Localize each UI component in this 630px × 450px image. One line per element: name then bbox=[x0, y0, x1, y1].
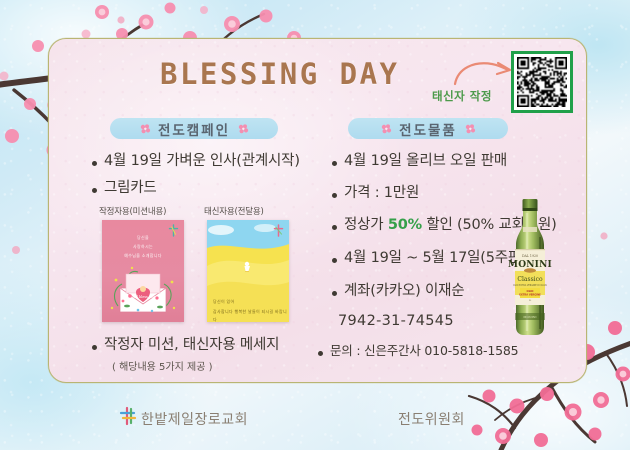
footer-church-name: 한밭제일장로교회 bbox=[141, 409, 248, 429]
bullet-dot bbox=[332, 258, 337, 263]
svg-text:EXTRA VERGINE: EXTRA VERGINE bbox=[519, 293, 541, 296]
list-item: 그림카드 bbox=[92, 180, 157, 197]
card-line-2: 사랑하시는 bbox=[102, 243, 184, 251]
contact-label: 문의 : 신은주간사 010-5818-1585 bbox=[330, 344, 518, 358]
list-item: 작정자 미션, 태신자용 메세지 bbox=[92, 337, 279, 354]
bullet-dot bbox=[318, 351, 323, 356]
poster-canvas: BLESSING DAY 태신자 작정 전도캠페인 4월 19일 가벼운 인사(… bbox=[0, 0, 630, 450]
cherry-blossom-icon bbox=[139, 123, 151, 135]
list-item: 가격 : 1만원 bbox=[332, 185, 419, 202]
bullet-dot bbox=[92, 188, 97, 193]
pink-envelope-card: 당신을 사랑하시는 예수님을 소개합니다 God bless you bbox=[102, 220, 184, 322]
qr-note-label: 태신자 작정 bbox=[432, 88, 492, 104]
cherry-blossom-icon bbox=[237, 123, 249, 135]
cross-icon bbox=[272, 224, 285, 237]
church-cross-logo bbox=[118, 406, 138, 426]
bottle-sub: OLIO EXTRA VERGINE DI OLIVA bbox=[513, 284, 547, 287]
bullet-dot bbox=[332, 161, 337, 166]
card-caption: 작정자용(미션내용) bbox=[99, 205, 166, 217]
bullet-dot bbox=[92, 161, 97, 166]
bottle-variant: Classico bbox=[517, 276, 543, 283]
list-item: 4월 19일 가벼운 인사(관계시작) bbox=[92, 153, 300, 170]
card-line-1: 당신이 있어 bbox=[213, 298, 234, 306]
cherry-blossom-icon bbox=[380, 123, 392, 135]
section-heading-campaign: 전도캠페인 bbox=[110, 118, 278, 139]
list-item: 문의 : 신은주간사 010-5818-1585 bbox=[318, 344, 518, 358]
card-heart-text: God bless you bbox=[131, 295, 156, 299]
card-line-2: 감사합니다 행복한 날들이 되시길 바랍니다 bbox=[213, 308, 289, 322]
curved-arrow-icon bbox=[452, 58, 514, 88]
cherry-blossom-icon bbox=[464, 123, 476, 135]
card-caption: 태신자용(전달용) bbox=[204, 205, 264, 217]
footer-committee: 전도위원회 bbox=[398, 409, 465, 429]
list-item-note: ( 해당내용 5가지 제공 ) bbox=[112, 358, 212, 373]
bullet-dot bbox=[332, 193, 337, 198]
card-line-1: 당신을 bbox=[102, 234, 184, 242]
list-item-date: 4월 19일 bbox=[104, 153, 162, 169]
yellow-field-card: 당신이 있어 감사합니다 행복한 날들이 되시길 바랍니다 bbox=[207, 220, 289, 322]
bottle-line-top: DAL 1920 bbox=[522, 254, 538, 258]
olive-oil-bottle: DAL 1920 MONINI Classico OLIO EXTRA VERG… bbox=[508, 197, 552, 341]
list-item-label: 그림카드 bbox=[104, 180, 157, 197]
list-item-label: 작정자 미션, 태신자용 메세지 bbox=[104, 337, 279, 354]
account-number: 7942-31-74545 bbox=[338, 313, 454, 329]
list-item: 계좌(카카오) 이재순 bbox=[332, 283, 464, 300]
section-heading-campaign-label: 전도캠페인 bbox=[158, 119, 230, 139]
card-line-3: 예수님을 소개합니다 bbox=[102, 252, 184, 260]
list-item: 4월 19일 올리브 오일 판매 bbox=[332, 153, 507, 170]
envelope-illustration: God bless you bbox=[108, 262, 178, 318]
list-item-label: 가벼운 인사(관계시작) bbox=[166, 153, 300, 169]
list-item-label: 4월 19일 올리브 오일 판매 bbox=[344, 153, 507, 170]
qr-code[interactable] bbox=[511, 51, 573, 113]
section-heading-products-label: 전도물품 bbox=[399, 119, 457, 139]
svg-text:MONINI: MONINI bbox=[523, 315, 537, 319]
bullet-dot bbox=[332, 291, 337, 296]
bullet-dot bbox=[332, 225, 337, 230]
list-item-prefix: 정상가 bbox=[344, 217, 388, 233]
section-heading-products: 전도물품 bbox=[348, 118, 508, 139]
discount-highlight: 50% bbox=[388, 217, 422, 233]
page-title: BLESSING DAY bbox=[160, 57, 400, 91]
list-item-label: 계좌(카카오) 이재순 bbox=[344, 283, 464, 300]
bullet-dot bbox=[92, 345, 97, 350]
svg-text:OLIO: OLIO bbox=[526, 289, 534, 293]
list-item-label: 가격 : 1만원 bbox=[344, 185, 419, 202]
qr-code-image bbox=[517, 57, 567, 107]
